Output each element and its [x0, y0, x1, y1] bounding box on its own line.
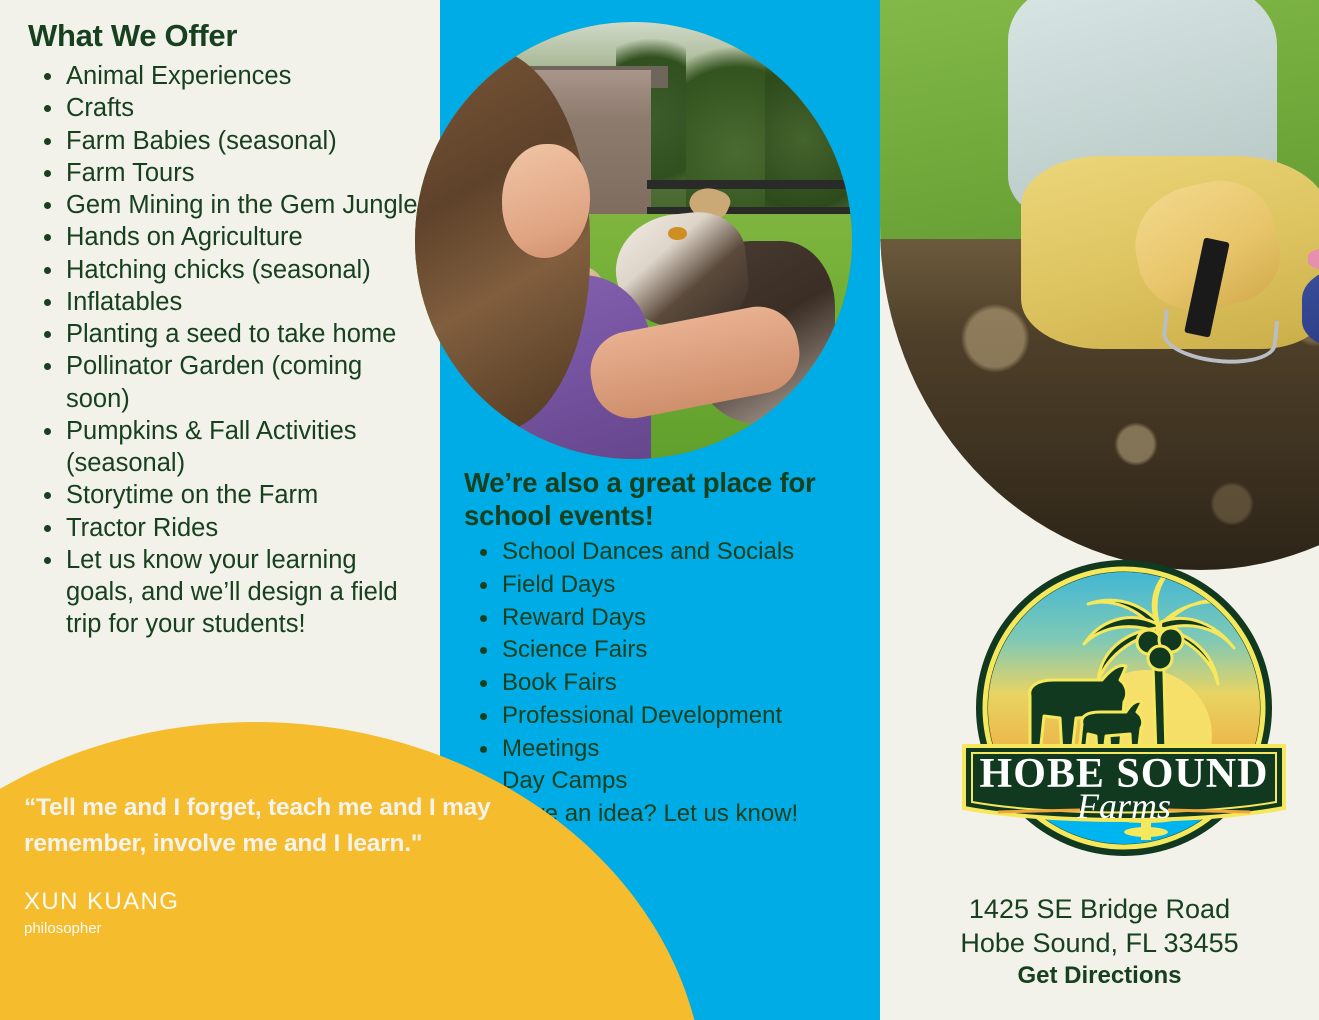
list-item: Farm Babies (seasonal): [22, 125, 418, 157]
list-item: School Dances and Socials: [458, 536, 862, 569]
list-item: Farm Tours: [22, 157, 418, 189]
quote-text: “Tell me and I forget, teach me and I ma…: [24, 790, 496, 862]
list-item: Field Days: [458, 569, 862, 602]
offerings-list: Animal Experiences Crafts Farm Babies (s…: [22, 60, 418, 641]
list-item: Crafts: [22, 92, 418, 124]
page-title: What We Offer: [28, 18, 418, 54]
list-item: Let us know your learning goals, and we’…: [22, 544, 418, 641]
brochure-page: What We Offer Animal Experiences Crafts …: [0, 0, 1319, 1020]
girl-with-goat-photo: [415, 22, 852, 459]
child-gardening-photo: [880, 0, 1319, 570]
list-item: Meetings: [458, 733, 862, 766]
offerings-section: What We Offer Animal Experiences Crafts …: [0, 0, 440, 641]
list-item: Tractor Rides: [22, 512, 418, 544]
list-item: Pollinator Garden (coming soon): [22, 350, 418, 415]
school-events-list: School Dances and Socials Field Days Rew…: [458, 536, 862, 831]
address-block: 1425 SE Bridge Road Hobe Sound, FL 33455…: [880, 892, 1319, 990]
logo-name-script: Farms: [1076, 786, 1171, 826]
list-item: Book Fairs: [458, 667, 862, 700]
list-item: Planting a seed to take home: [22, 318, 418, 350]
address-line-1: 1425 SE Bridge Road: [880, 892, 1319, 926]
list-item: Science Fairs: [458, 634, 862, 667]
child-gardening-photo-art: [880, 0, 1319, 570]
quote-author: XUN KUANG: [24, 888, 496, 916]
list-item: Hands on Agriculture: [22, 221, 418, 253]
list-item: Pumpkins & Fall Activities (seasonal): [22, 415, 418, 480]
list-item: Inflatables: [22, 286, 418, 318]
list-item: Reward Days: [458, 602, 862, 635]
list-item: Animal Experiences: [22, 60, 418, 92]
school-events-title: We’re also a great place for school even…: [464, 466, 862, 532]
list-item: Gem Mining in the Gem Jungle: [22, 189, 418, 221]
list-item: Professional Development: [458, 700, 862, 733]
quote-role: philosopher: [24, 920, 496, 937]
girl-with-goat-photo-art: [415, 22, 852, 459]
address-line-2: Hobe Sound, FL 33455: [880, 926, 1319, 960]
hobe-sound-farms-logo: HOBE SOUND Farms: [960, 540, 1288, 870]
list-item: Storytime on the Farm: [22, 479, 418, 511]
testimonial-quote: “Tell me and I forget, teach me and I ma…: [0, 790, 520, 937]
get-directions-link[interactable]: Get Directions: [880, 962, 1319, 990]
list-item: Hatching chicks (seasonal): [22, 254, 418, 286]
school-events-section: We’re also a great place for school even…: [440, 466, 880, 831]
